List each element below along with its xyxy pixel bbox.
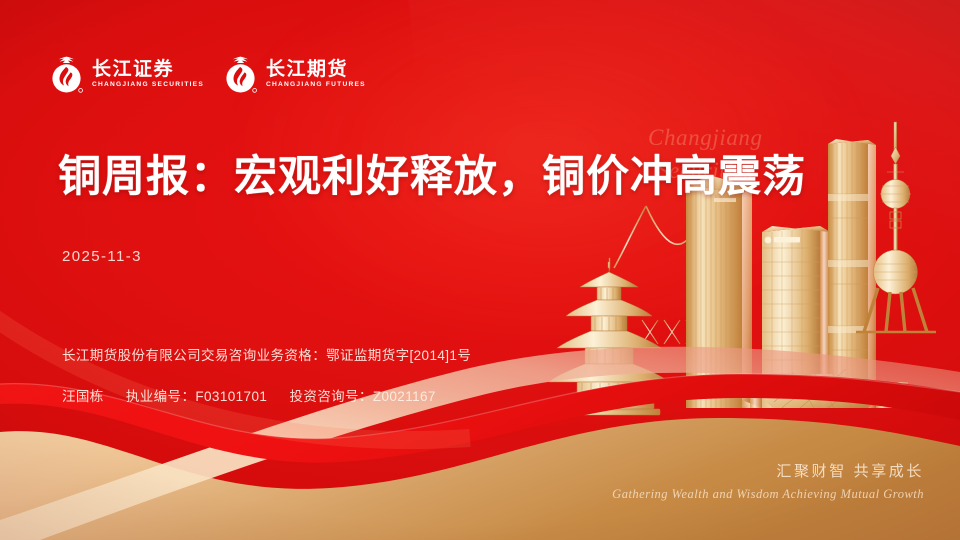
page-title: 铜周报：宏观利好释放，铜价冲高震荡 — [58, 142, 806, 204]
logo-label-en: CHANGJIANG SECURITIES — [92, 82, 204, 89]
tagline: 汇聚财智 共享成长 Gathering Wealth and Wisdom Ac… — [612, 460, 924, 502]
logo-changjiang-securities[interactable]: 长江证券 CHANGJIANG SECURITIES — [48, 55, 204, 94]
report-date: 2025-11-3 — [62, 248, 142, 265]
logo-label-en: CHANGJIANG FUTURES — [266, 82, 366, 89]
analyst-name: 汪国栋 — [62, 389, 104, 404]
license-text: 长江期货股份有限公司交易咨询业务资格：鄂证监期货字[2014]1号 — [62, 344, 471, 364]
logo-bar: 长江证券 CHANGJIANG SECURITIES — [48, 55, 366, 94]
analyst-consulting-number: 投资咨询号：Z0021167 — [289, 389, 435, 404]
changjiang-flame-logo-icon — [48, 55, 85, 94]
logo-label-cn: 长江期货 — [266, 60, 366, 79]
changjiang-flame-logo-icon — [222, 55, 259, 94]
cover-slide: Changjiang Securities — [0, 0, 960, 540]
tagline-en: Gathering Wealth and Wisdom Achieving Mu… — [612, 487, 924, 502]
logo-changjiang-futures[interactable]: 长江期货 CHANGJIANG FUTURES — [222, 55, 366, 94]
logo-label-cn: 长江证券 — [92, 60, 204, 79]
analyst-info: 汪国栋 执业编号：F03101701 投资咨询号：Z0021167 — [62, 385, 436, 405]
tagline-cn: 汇聚财智 共享成长 — [612, 460, 924, 481]
analyst-practice-number: 执业编号：F03101701 — [126, 389, 267, 404]
